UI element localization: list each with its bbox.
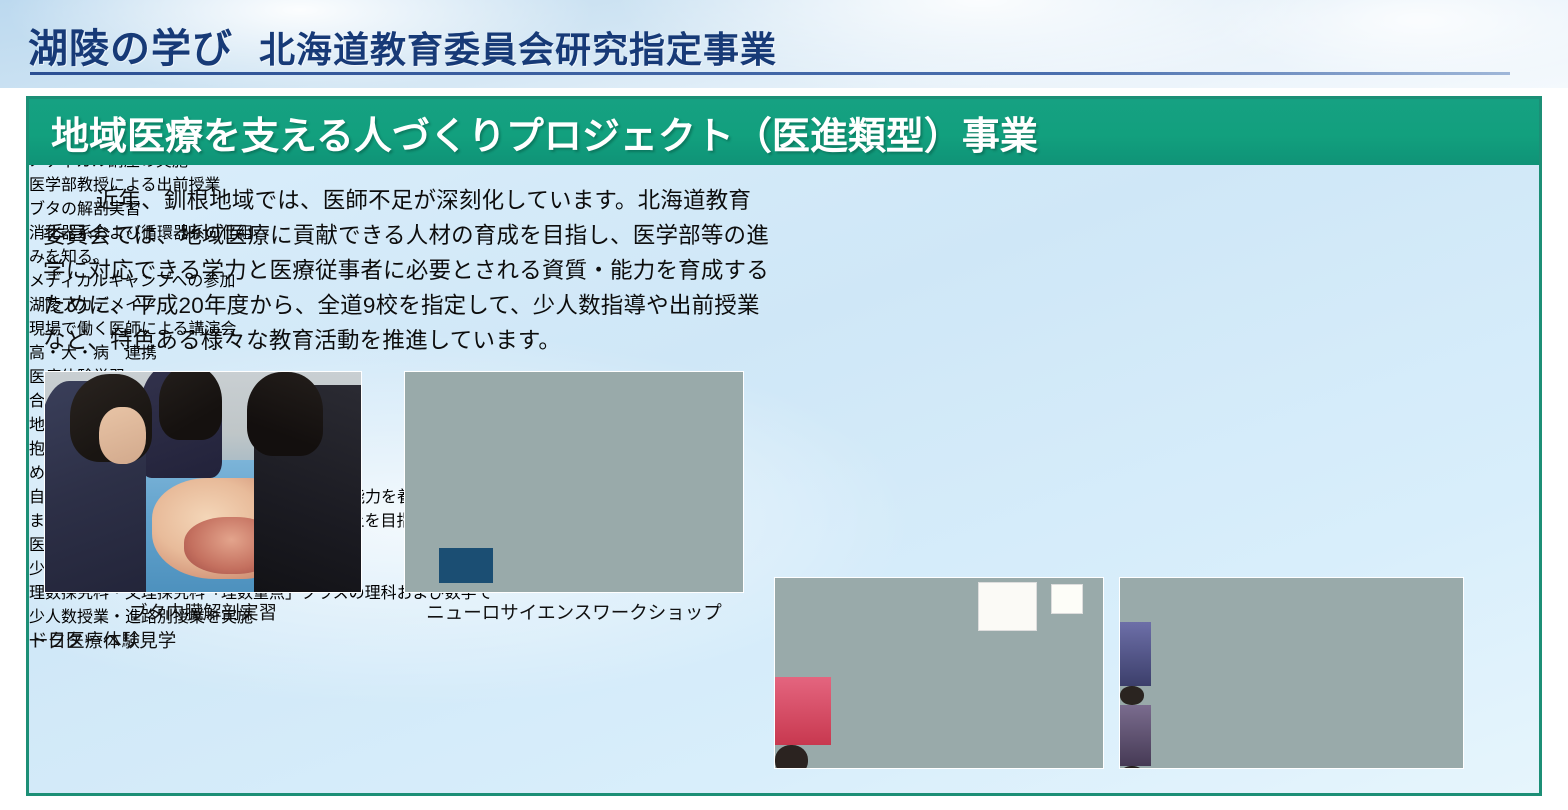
- intro-text: 近年、釧根地域では、医師不足が深刻化しています。北海道教育委員会では、地域医療に…: [43, 183, 773, 358]
- project-title-banner: 地域医療を支える人づくりプロジェクト（医進類型）事業: [29, 99, 1539, 165]
- photo-pig-dissection: [44, 371, 362, 593]
- photo-caption-doctor-heli-tour: ドクターヘリ見学: [29, 627, 176, 653]
- photo-caption-neuroscience-workshop: ニューロサイエンスワークショップ: [404, 599, 744, 625]
- intro-paragraph: 近年、釧根地域では、医師不足が深刻化しています。北海道教育委員会では、地域医療に…: [43, 183, 773, 358]
- page-title-main: 湖陵の学び: [28, 26, 233, 71]
- page-header-band: 湖陵の学び北海道教育委員会研究指定事業: [0, 0, 1568, 88]
- header-divider: [30, 72, 1510, 75]
- page-title-sub: 北海道教育委員会研究指定事業: [259, 30, 777, 70]
- photo-neuroscience-workshop: [404, 371, 744, 593]
- photo-caption-pig-dissection: ブタ内臓解剖実習: [44, 599, 362, 625]
- project-title-text: 地域医療を支える人づくりプロジェクト（医進類型）事業: [51, 105, 1038, 160]
- content-frame: 地域医療を支える人づくりプロジェクト（医進類型）事業 近年、釧根地域では、医師不…: [26, 96, 1542, 796]
- page-title: 湖陵の学び北海道教育委員会研究指定事業: [28, 16, 777, 74]
- photo-one-day-medical-experience: [774, 577, 1104, 769]
- photo-doctor-heli-tour: [1119, 577, 1464, 769]
